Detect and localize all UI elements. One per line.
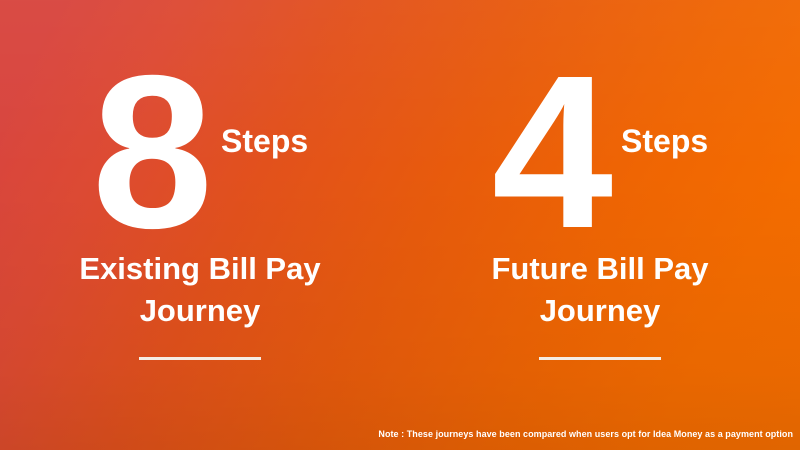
comparison-columns: 8 Steps Existing Bill Pay Journey 4 Step… xyxy=(0,0,800,450)
journey-title-future-line1: Future Bill Pay xyxy=(400,248,800,290)
journey-title-existing: Existing Bill Pay Journey xyxy=(0,248,400,331)
metric-number-future: 4 xyxy=(492,44,609,262)
metric-existing: 8 Steps xyxy=(0,44,400,234)
slide-canvas: 8 Steps Existing Bill Pay Journey 4 Step… xyxy=(0,0,800,450)
journey-title-existing-line2: Journey xyxy=(0,290,400,332)
footnote-text: Note : These journeys have been compared… xyxy=(378,429,793,439)
journey-title-future-line2: Journey xyxy=(400,290,800,332)
metric-unit-future: Steps xyxy=(621,125,708,157)
metric-unit-existing: Steps xyxy=(221,125,308,157)
journey-title-future: Future Bill Pay Journey xyxy=(400,248,800,331)
column-future-journey: 4 Steps Future Bill Pay Journey xyxy=(400,0,800,450)
divider-rule-existing xyxy=(139,357,261,360)
metric-future: 4 Steps xyxy=(400,44,800,234)
journey-title-existing-line1: Existing Bill Pay xyxy=(0,248,400,290)
metric-number-existing: 8 xyxy=(92,44,209,262)
divider-rule-future xyxy=(539,357,661,360)
column-existing-journey: 8 Steps Existing Bill Pay Journey xyxy=(0,0,400,450)
